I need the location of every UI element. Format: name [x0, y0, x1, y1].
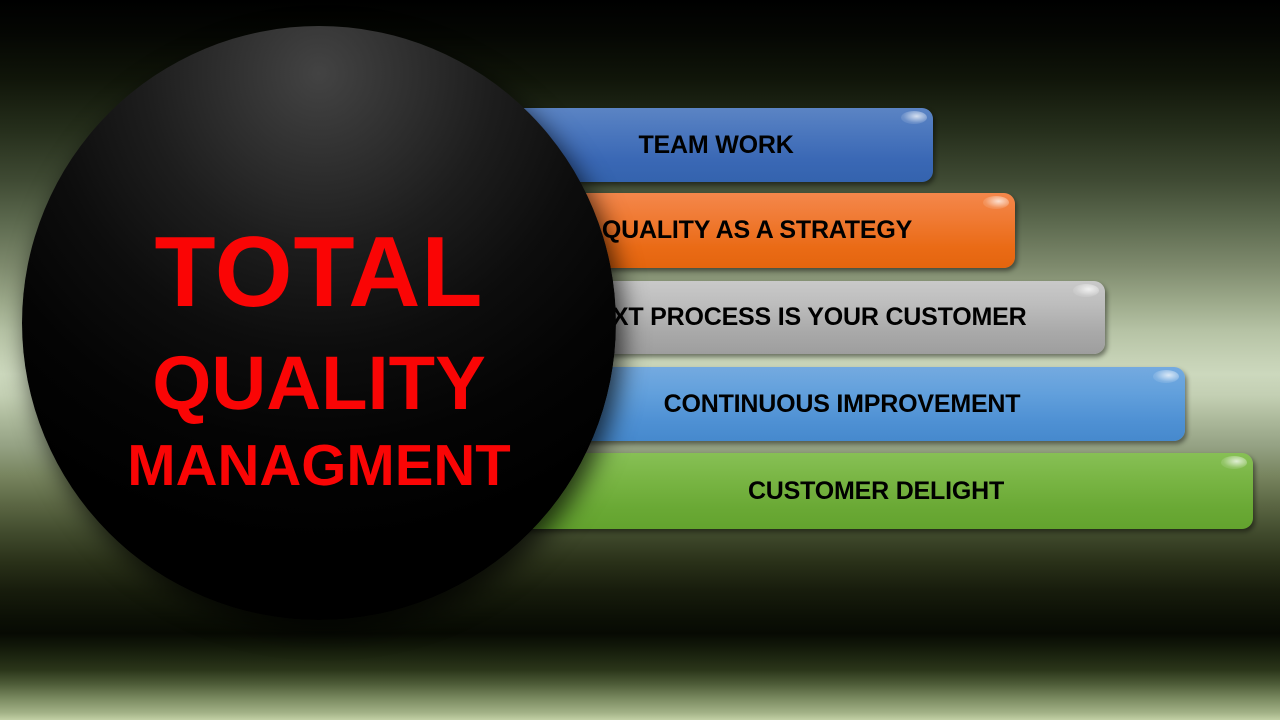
slide-canvas: TEAM WORK QUALITY AS A STRATEGY NEXT PRO… [0, 0, 1280, 720]
pillar-label-team-work: TEAM WORK [505, 133, 933, 158]
pillar-label-customer-delight: CUSTOMER DELIGHT [505, 479, 1253, 504]
title-line-total: TOTAL [22, 221, 616, 323]
pillar-bar-customer-delight[interactable]: CUSTOMER DELIGHT [505, 453, 1253, 529]
title-line-quality: QUALITY [22, 345, 616, 423]
title-circle-shape: TOTAL QUALITY MANAGMENT [22, 26, 616, 620]
title-line-managment: MANAGMENT [22, 436, 616, 495]
